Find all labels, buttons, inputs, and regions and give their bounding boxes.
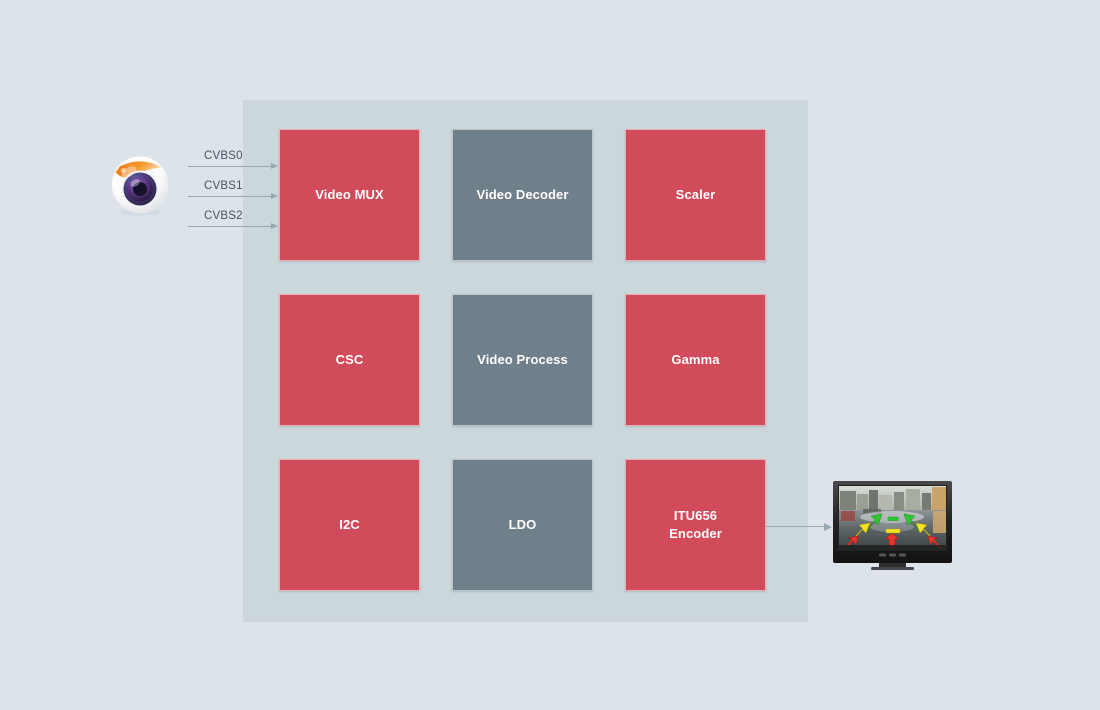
connector-line bbox=[188, 226, 272, 227]
block-gamma[interactable]: Gamma bbox=[625, 294, 766, 426]
connector-line bbox=[188, 166, 272, 167]
signal-cvbs1: CVBS1 bbox=[188, 196, 278, 197]
signal-label: CVBS2 bbox=[204, 210, 243, 222]
connector-line bbox=[188, 196, 272, 197]
arrow-right-icon bbox=[271, 163, 278, 169]
signal-label: CVBS1 bbox=[204, 180, 243, 192]
arrow-right-icon bbox=[824, 523, 832, 531]
block-video-process[interactable]: Video Process bbox=[452, 294, 593, 426]
block-video-decoder[interactable]: Video Decoder bbox=[452, 129, 593, 261]
block-i2c[interactable]: I2C bbox=[279, 459, 420, 591]
block-scaler[interactable]: Scaler bbox=[625, 129, 766, 261]
block-itu656-encoder[interactable]: ITU656Encoder bbox=[625, 459, 766, 591]
signal-cvbs2: CVBS2 bbox=[188, 226, 278, 227]
signal-label: CVBS0 bbox=[204, 150, 243, 162]
connector-line bbox=[766, 526, 824, 527]
block-ldo[interactable]: LDO bbox=[452, 459, 593, 591]
block-grid: Video MUX Video Decoder Scaler CSC Video… bbox=[279, 129, 766, 592]
block-video-mux[interactable]: Video MUX bbox=[279, 129, 420, 261]
block-csc[interactable]: CSC bbox=[279, 294, 420, 426]
signal-cvbs0: CVBS0 bbox=[188, 166, 278, 167]
camera-icon bbox=[107, 152, 173, 218]
arrow-right-icon bbox=[271, 223, 278, 229]
arrow-right-icon bbox=[271, 193, 278, 199]
output-connector bbox=[766, 526, 832, 527]
rear-view-monitor-icon bbox=[833, 481, 952, 571]
